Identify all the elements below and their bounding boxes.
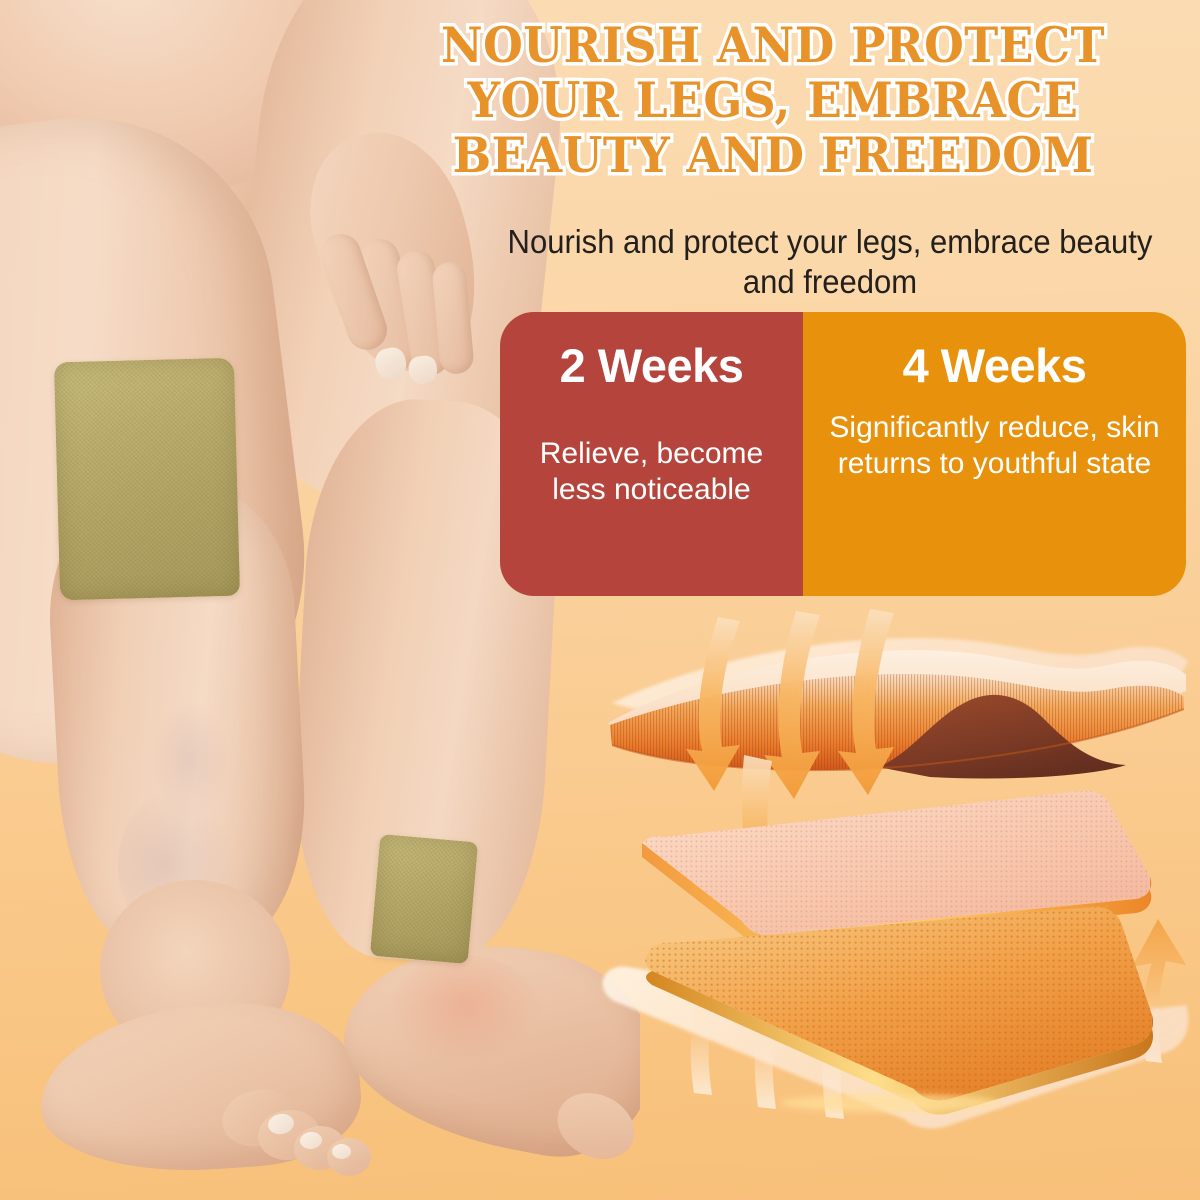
vein-shading-secondary (150, 700, 230, 820)
timeline-column-4-weeks: 4 Weeks Significantly reduce, skin retur… (803, 312, 1186, 596)
timeline-description-4-weeks: Significantly reduce, skin returns to yo… (817, 410, 1172, 482)
timeline-title-4-weeks: 4 Weeks (817, 338, 1172, 394)
timeline-column-2-weeks: 2 Weeks Relieve, become less noticeable (500, 312, 803, 596)
timeline-description-2-weeks: Relieve, become less noticeable (514, 436, 789, 508)
timeline-card: 2 Weeks Relieve, become less noticeable … (500, 312, 1186, 596)
toe (327, 1138, 371, 1176)
timeline-title-2-weeks: 2 Weeks (514, 338, 789, 394)
herbal-adhesive-patch-layer (602, 907, 1188, 1129)
knee-patch (54, 358, 240, 601)
page-title: NOURISH AND PROTECT YOUR LEGS, EMBRACE B… (376, 18, 1170, 183)
toenail (332, 1144, 351, 1159)
ankle-patch (370, 834, 478, 964)
product-banner: NOURISH AND PROTECT YOUR LEGS, EMBRACE B… (0, 0, 1200, 1200)
layer-diagram (590, 605, 1200, 1165)
heel-blush (390, 955, 540, 1065)
page-subtitle: Nourish and protect your legs, embrace b… (488, 222, 1172, 302)
